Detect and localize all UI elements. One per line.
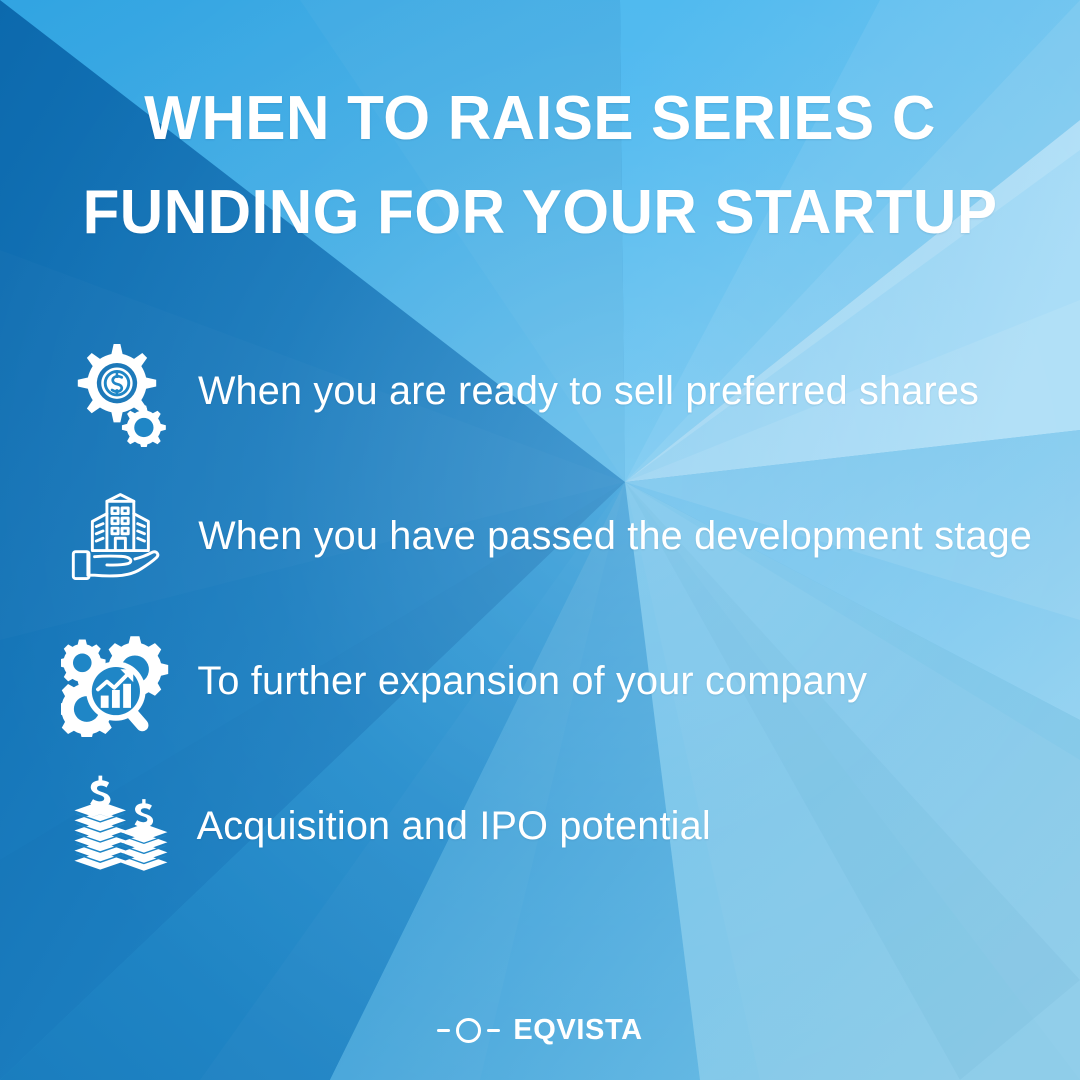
infographic-poster: WHEN TO RAISE SERIES C FUNDING FOR YOUR …	[0, 0, 1080, 1080]
hand-holding-building-icon	[58, 476, 176, 596]
magnifier-growth-chart-gears-icon	[58, 621, 176, 741]
list-item: Acquisition and IPO potential	[0, 753, 1080, 898]
circle-with-dashes-icon	[437, 1018, 500, 1043]
coin-stacks-dollar-icon	[58, 766, 176, 886]
magnifier-growth-chart-gears-icon-row: To further expansion of your company	[0, 608, 1080, 753]
list-item: When you are ready to sell preferred sha…	[0, 318, 1080, 463]
logo-ring	[456, 1018, 481, 1043]
list-item-label: Acquisition and IPO potential	[197, 802, 711, 850]
brand-name: EQVISTA	[513, 1014, 642, 1047]
gear-dollar-icon	[58, 331, 176, 451]
logo-dash-left	[437, 1029, 450, 1032]
list-item-label: When you are ready to sell preferred sha…	[198, 367, 979, 415]
title-line-2: FUNDING FOR YOUR STARTUP	[41, 166, 1038, 260]
page-title: WHEN TO RAISE SERIES C FUNDING FOR YOUR …	[0, 72, 1080, 260]
logo-dash-right	[487, 1029, 500, 1032]
bullet-list: When you are ready to sell preferred sha…	[0, 318, 1080, 898]
title-line-1: WHEN TO RAISE SERIES C	[41, 72, 1038, 166]
brand-logo[interactable]: EQVISTA	[0, 1014, 1080, 1047]
list-item-label: When you have passed the development sta…	[198, 512, 1032, 560]
list-item-label: To further expansion of your company	[197, 657, 867, 705]
list-item: When you have passed the development sta…	[0, 463, 1080, 608]
